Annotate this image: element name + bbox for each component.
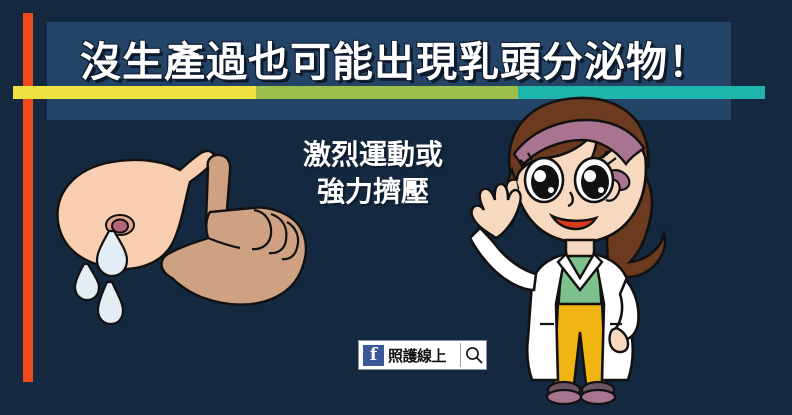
- eye-left: [525, 158, 563, 202]
- pants: [554, 304, 606, 384]
- search-icon[interactable]: [464, 345, 484, 365]
- facebook-icon[interactable]: f: [363, 345, 384, 366]
- shoe-sole-right: [581, 390, 615, 404]
- page-title: 沒生產過也可能出現乳頭分泌物！: [55, 26, 735, 90]
- orange-vertical-accent-bar: [23, 13, 33, 382]
- breast-nipple-discharge-illustration: [40, 130, 310, 335]
- poster-canvas: 沒生產過也可能出現乳頭分泌物！ 激烈運動或 強力擠壓: [0, 0, 792, 415]
- eye-right: [575, 158, 613, 202]
- discharge-droplet-3: [98, 282, 123, 324]
- female-doctor-character: [470, 92, 700, 415]
- shoe-sole-left: [547, 390, 581, 404]
- discharge-droplet-2: [75, 264, 99, 300]
- brand-logo[interactable]: f 照護線上: [358, 340, 487, 370]
- lab-coat-sleeve-raised: [470, 228, 536, 290]
- brand-name: 照護線上: [384, 345, 457, 366]
- logo-divider: [460, 343, 461, 367]
- accent-bar-yellow: [13, 86, 256, 99]
